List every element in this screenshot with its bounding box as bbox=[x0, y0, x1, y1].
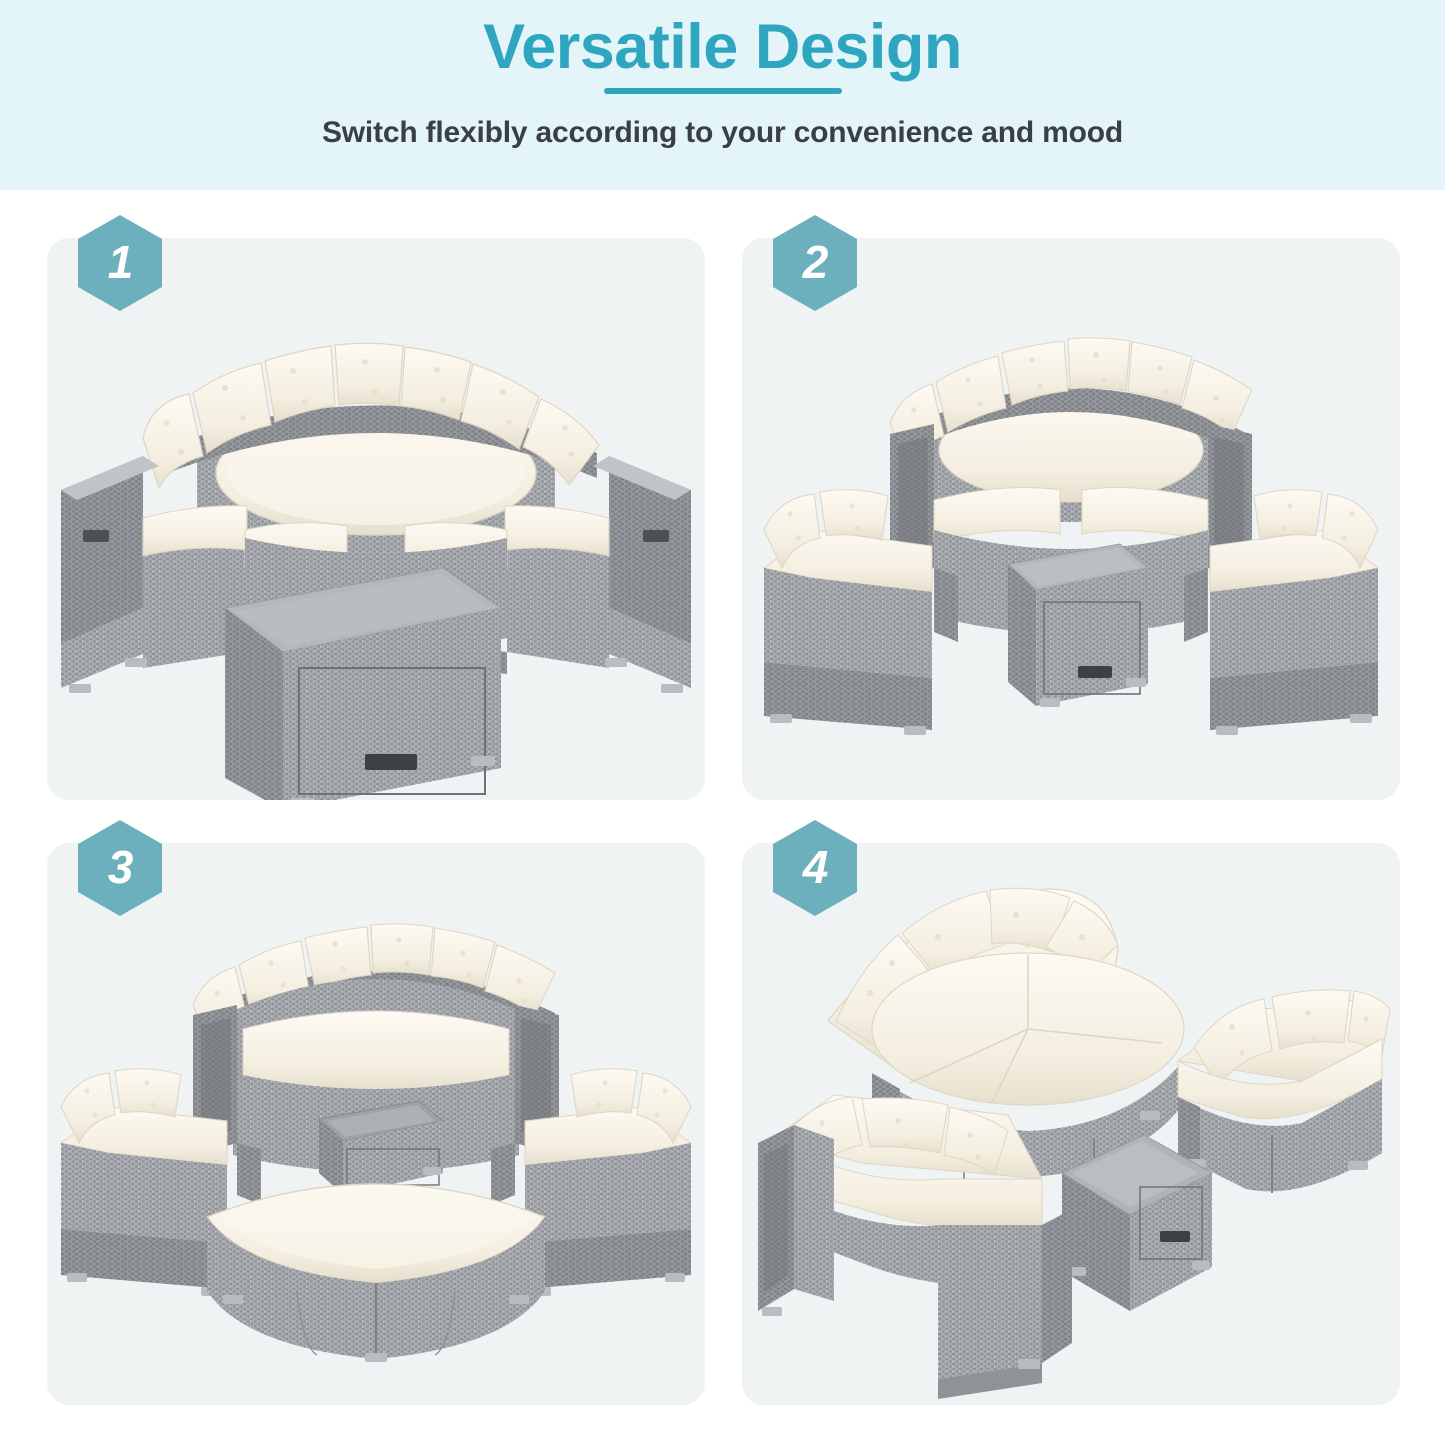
step-badge-number: 1 bbox=[78, 215, 162, 311]
furniture-illustration-3 bbox=[47, 843, 705, 1405]
step-badge-4: 4 bbox=[773, 820, 857, 916]
furniture-illustration-4 bbox=[742, 843, 1400, 1405]
page-subtitle: Switch flexibly according to your conven… bbox=[322, 116, 1123, 150]
configuration-grid: 1 bbox=[47, 238, 1400, 1405]
step-badge-number: 2 bbox=[773, 215, 857, 311]
furniture-illustration-1 bbox=[47, 238, 705, 800]
step-badge-1: 1 bbox=[78, 215, 162, 311]
panel-configuration-4: 4 bbox=[742, 843, 1400, 1405]
title-underline-rule bbox=[604, 88, 842, 94]
step-badge-2: 2 bbox=[773, 215, 857, 311]
poster-root: Versatile Design Switch flexibly accordi… bbox=[0, 0, 1445, 1445]
panel-configuration-3: 3 bbox=[47, 843, 705, 1405]
panel-configuration-2: 2 bbox=[742, 238, 1400, 800]
page-title: Versatile Design bbox=[483, 14, 962, 80]
panel-configuration-1: 1 bbox=[47, 238, 705, 800]
step-badge-3: 3 bbox=[78, 820, 162, 916]
step-badge-number: 4 bbox=[773, 820, 857, 916]
furniture-illustration-2 bbox=[742, 238, 1400, 800]
header-band: Versatile Design Switch flexibly accordi… bbox=[0, 0, 1445, 190]
step-badge-number: 3 bbox=[78, 820, 162, 916]
